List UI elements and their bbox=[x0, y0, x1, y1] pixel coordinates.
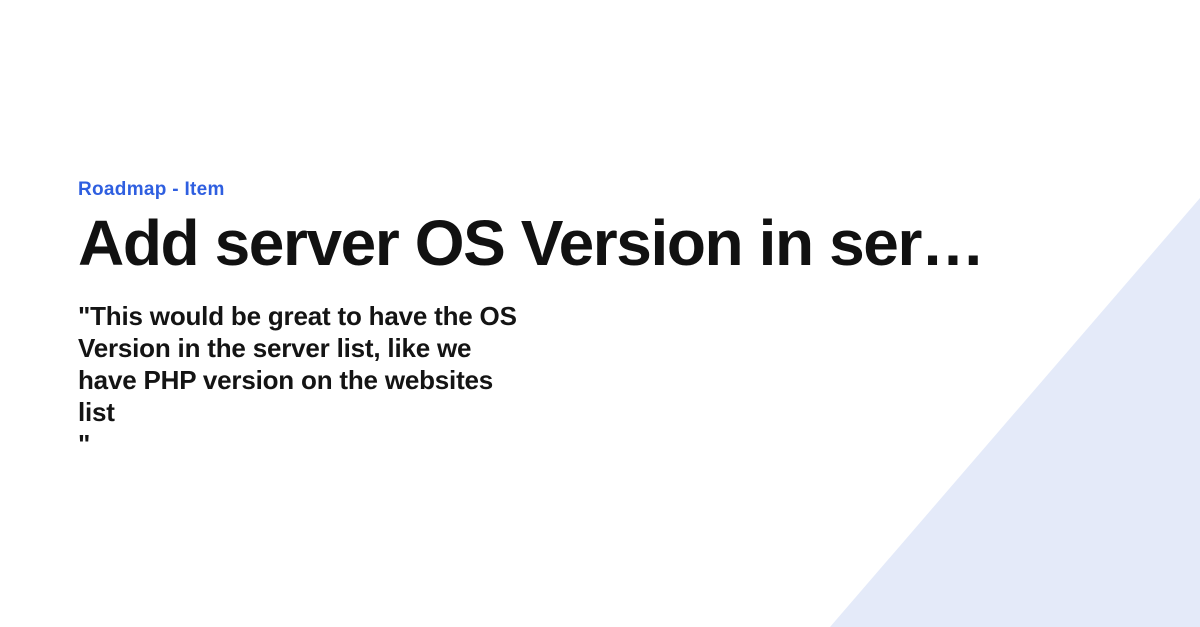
quote-text: "This would be great to have the OS Vers… bbox=[78, 300, 738, 460]
page-title: Add server OS Version in ser… bbox=[78, 210, 1138, 278]
card-content: Roadmap - Item Add server OS Version in … bbox=[78, 178, 1138, 460]
share-card: Roadmap - Item Add server OS Version in … bbox=[0, 0, 1200, 627]
breadcrumb[interactable]: Roadmap - Item bbox=[78, 178, 1138, 202]
